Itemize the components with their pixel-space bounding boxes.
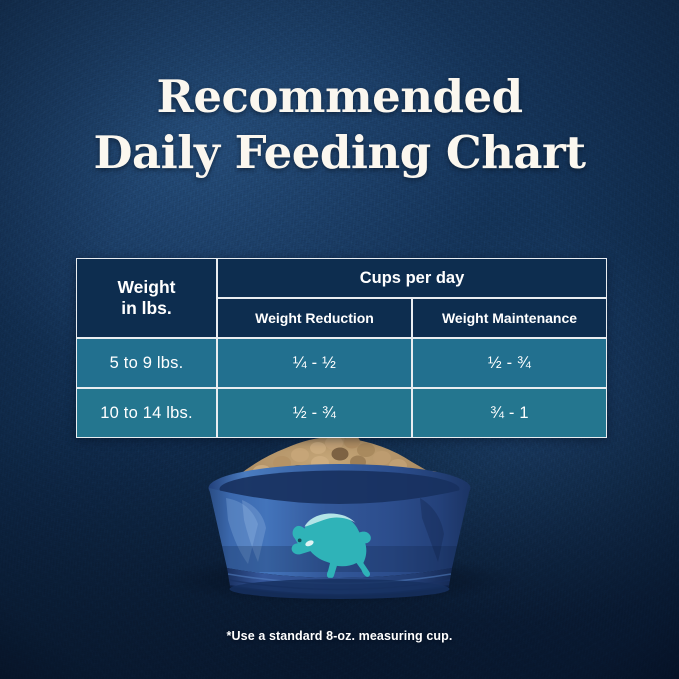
weight-label-line2: in lbs. — [121, 298, 172, 318]
bowl-foot — [230, 579, 450, 599]
feeding-chart-table: Weight in lbs. Cups per day Weight Reduc… — [76, 258, 607, 438]
dog-bowl-illustration — [0, 428, 679, 608]
weight-label-line1: Weight — [117, 277, 175, 297]
page-title: Recommended Daily Feeding Chart — [0, 74, 679, 175]
footnote-text: *Use a standard 8-oz. measuring cup. — [0, 629, 679, 643]
title-line-2: Daily Feeding Chart — [0, 130, 679, 175]
bowl-svg — [0, 428, 679, 608]
row-0-weight: 5 to 9 lbs. — [76, 338, 217, 388]
row-0-weight-maintenance-value: ½ - ¾ — [488, 354, 531, 372]
row-1-weight-maintenance-value: ¾ - 1 — [490, 404, 529, 422]
table-header-weight-reduction: Weight Reduction — [217, 298, 412, 338]
row-1-weight-value: 10 to 14 lbs. — [100, 404, 193, 422]
row-0-weight-maintenance: ½ - ¾ — [412, 338, 607, 388]
row-0-weight-value: 5 to 9 lbs. — [110, 354, 184, 372]
table-row: 5 to 9 lbs. ¼ - ½ ½ - ¾ — [76, 338, 607, 388]
row-1-weight-maintenance: ¾ - 1 — [412, 388, 607, 438]
table-header-weight-maintenance: Weight Maintenance — [412, 298, 607, 338]
table-header-cups-per-day: Cups per day — [217, 258, 607, 298]
row-0-weight-reduction: ¼ - ½ — [217, 338, 412, 388]
row-1-weight: 10 to 14 lbs. — [76, 388, 217, 438]
title-line-1: Recommended — [0, 74, 679, 119]
feeding-chart-poster: Recommended Daily Feeding Chart Weight i… — [0, 0, 679, 679]
table-header-weight: Weight in lbs. — [76, 258, 217, 338]
row-1-weight-reduction: ½ - ¾ — [217, 388, 412, 438]
table-row: 10 to 14 lbs. ½ - ¾ ¾ - 1 — [76, 388, 607, 438]
row-1-weight-reduction-value: ½ - ¾ — [293, 404, 336, 422]
row-0-weight-reduction-value: ¼ - ½ — [293, 354, 336, 372]
table-header-row-top: Weight in lbs. Cups per day — [76, 258, 607, 298]
